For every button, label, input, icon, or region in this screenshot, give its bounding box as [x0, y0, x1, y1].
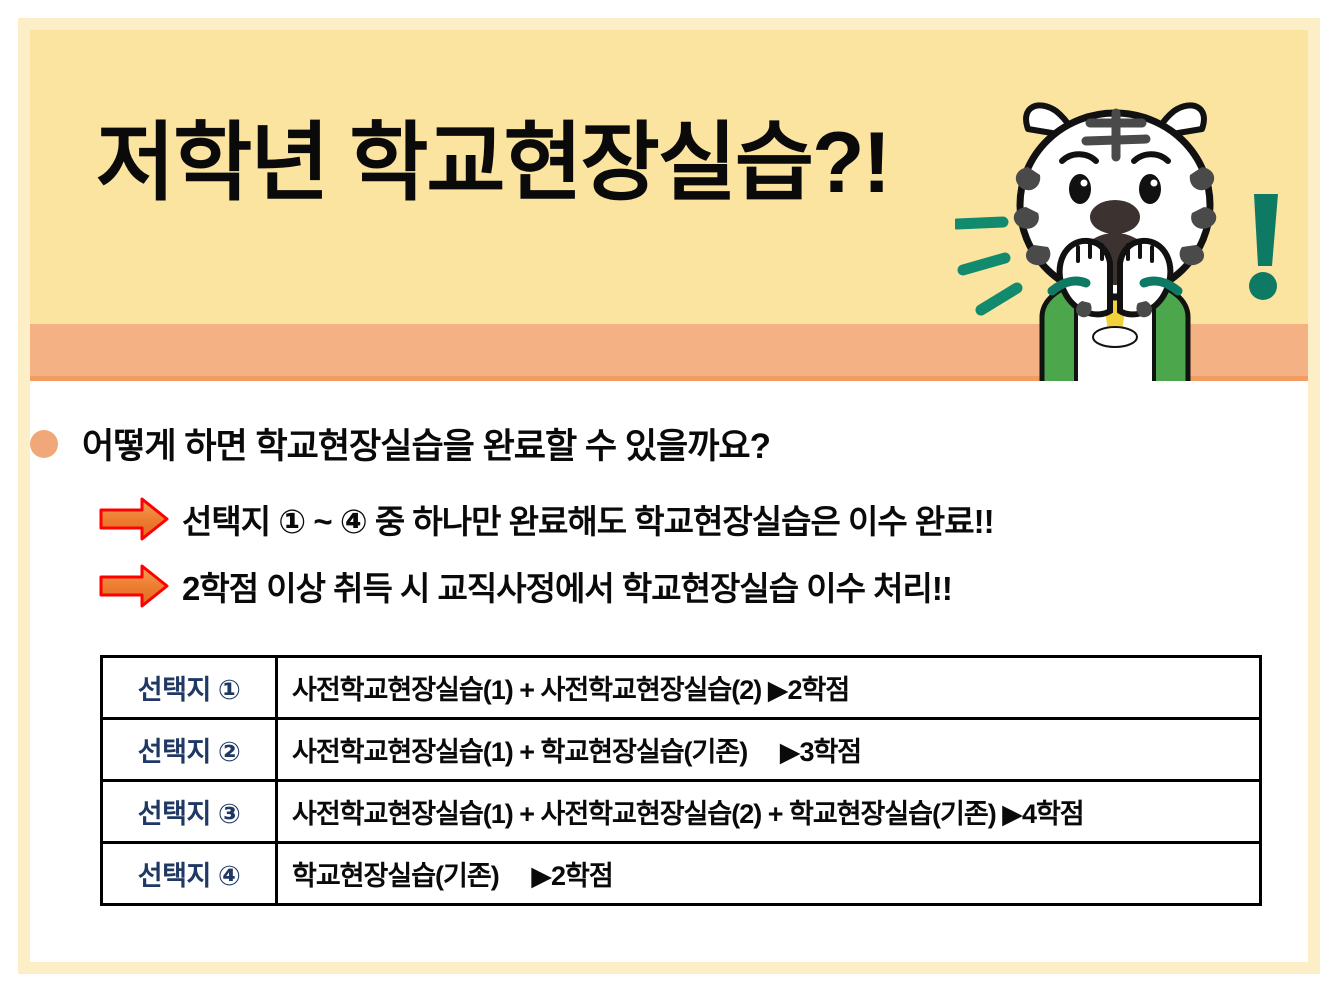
slide-canvas: 저학년 학교현장실습?! — [0, 0, 1338, 992]
bullet-text-highlighted: 학교현장실습을 완료 — [255, 418, 545, 469]
option-description: 학교현장실습(기존) ▶2학점 — [277, 843, 1261, 905]
option-description: 사전학교현장실습(1) + 학교현장실습(기존) ▶3학점 — [277, 719, 1261, 781]
arrow-line-2-text: 2학점 이상 취득 시 교직사정에서 학교현장실습 이수 처리!! — [182, 562, 952, 610]
arrow-line-2: 2학점 이상 취득 시 교직사정에서 학교현장실습 이수 처리!! — [98, 562, 952, 610]
arrow-1-after: 해도 학교현장실습은 이수 완료!! — [567, 503, 993, 540]
arrow-line-1-text: 선택지 ① ~ ④ 중 하나만 완료해도 학교현장실습은 이수 완료!! — [182, 495, 994, 543]
bullet-dot-icon — [30, 430, 58, 458]
right-arrow-icon — [98, 496, 170, 542]
bullet-question-text: 어떻게 하면 학교현장실습을 완료할 수 있을까요? — [82, 418, 770, 469]
arrow-1-highlighted: 선택지 ① ~ ④ 중 하나만 완료 — [182, 495, 567, 543]
option-label: 선택지 ③ — [102, 781, 277, 843]
slide-frame-right — [1308, 18, 1320, 974]
white-tiger-mascot-icon — [990, 95, 1240, 385]
arrow-line-1: 선택지 ① ~ ④ 중 하나만 완료해도 학교현장실습은 이수 완료!! — [98, 495, 994, 543]
options-table: 선택지 ① 사전학교현장실습(1) + 사전학교현장실습(2) ▶2학점 선택지… — [100, 655, 1262, 906]
table-row: 선택지 ① 사전학교현장실습(1) + 사전학교현장실습(2) ▶2학점 — [102, 657, 1261, 719]
slide-frame-top — [18, 18, 1320, 30]
table-row: 선택지 ④ 학교현장실습(기존) ▶2학점 — [102, 843, 1261, 905]
option-label: 선택지 ① — [102, 657, 277, 719]
right-arrow-icon — [98, 563, 170, 609]
slide-frame-bottom — [18, 962, 1320, 974]
slide-frame-left — [18, 18, 30, 974]
arrow-2-highlighted: 2학점 이상 취득 시 — [182, 562, 429, 610]
arrow-2-after: 교직사정에서 학교현장실습 이수 처리!! — [429, 570, 951, 607]
option-label: 선택지 ④ — [102, 843, 277, 905]
option-description: 사전학교현장실습(1) + 사전학교현장실습(2) + 학교현장실습(기존) ▶… — [277, 781, 1261, 843]
table-row: 선택지 ② 사전학교현장실습(1) + 학교현장실습(기존) ▶3학점 — [102, 719, 1261, 781]
bullet-text-after: 할 수 있을까요? — [545, 427, 770, 466]
exclamation-mark-icon — [1248, 192, 1282, 302]
bullet-text-before: 어떻게 하면 — [82, 427, 255, 466]
page-title: 저학년 학교현장실습?! — [96, 118, 889, 208]
option-label: 선택지 ② — [102, 719, 277, 781]
table-row: 선택지 ③ 사전학교현장실습(1) + 사전학교현장실습(2) + 학교현장실습… — [102, 781, 1261, 843]
option-description: 사전학교현장실습(1) + 사전학교현장실습(2) ▶2학점 — [277, 657, 1261, 719]
bullet-question-row: 어떻게 하면 학교현장실습을 완료할 수 있을까요? — [30, 418, 770, 469]
